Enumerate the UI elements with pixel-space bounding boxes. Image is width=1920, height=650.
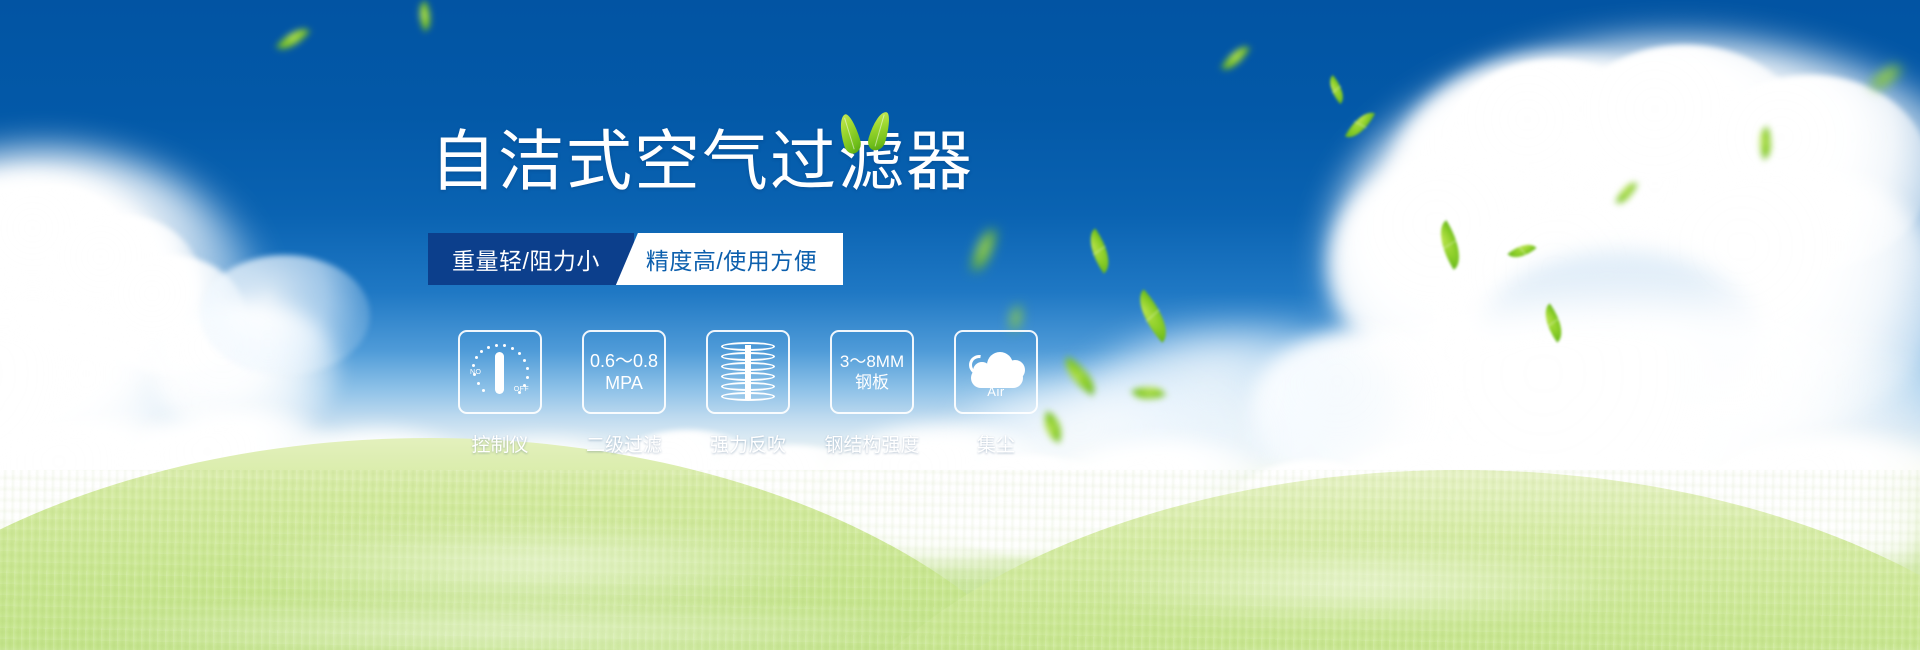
steel-material: 钢板 — [840, 372, 904, 393]
gauge-dial-icon: NO OFF — [469, 342, 531, 402]
steel-thickness: 3～8MM — [840, 351, 904, 372]
feature-item-steel-strength[interactable]: 3～8MM 钢板 钢结构强度 — [810, 330, 934, 457]
feature-label: 钢结构强度 — [824, 430, 919, 457]
sprout-leaf-right — [866, 109, 893, 152]
tab-weight-resistance[interactable]: 重量轻/阻力小 — [428, 233, 634, 285]
feature-icon-box: Air — [954, 330, 1038, 414]
tab-precision-convenience[interactable]: 精度高/使用方便 — [616, 233, 843, 285]
pressure-value-icon: 0.6～0.8 MPA — [590, 350, 658, 394]
cloud-label-air: Air — [965, 384, 1027, 399]
steel-plate-value-icon: 3～8MM 钢板 — [840, 351, 904, 393]
sprout-leaves-icon — [839, 108, 899, 156]
feature-label: 集尘 — [977, 430, 1015, 457]
gauge-label-off: OFF — [514, 386, 529, 393]
product-banner: 自洁式空气过滤器 重量轻/阻力小 精度高/使用方便 — [0, 0, 1920, 650]
gauge-label-no: NO — [470, 369, 481, 376]
feature-item-dust-collection[interactable]: Air 集尘 — [934, 330, 1058, 457]
feature-label: 二级过滤 — [586, 430, 662, 457]
pressure-unit: MPA — [590, 372, 658, 394]
sprout-leaf-left — [836, 112, 864, 155]
feature-icon-box: 0.6～0.8 MPA — [582, 330, 666, 414]
feature-icon-list: NO OFF 控制仪 0.6～0.8 MPA 二级过滤 — [438, 330, 1058, 457]
feature-tabs: 重量轻/阻力小 精度高/使用方便 — [428, 233, 843, 285]
feature-icon-box — [706, 330, 790, 414]
banner-content: 自洁式空气过滤器 重量轻/阻力小 精度高/使用方便 — [0, 0, 1920, 650]
pressure-range: 0.6～0.8 — [590, 350, 658, 372]
feature-item-strong-backblow[interactable]: 强力反吹 — [686, 330, 810, 457]
gauge-needle — [495, 352, 504, 394]
feature-label: 强力反吹 — [710, 430, 786, 457]
feature-label: 控制仪 — [471, 430, 528, 457]
feature-icon-box: NO OFF — [458, 330, 542, 414]
air-cloud-icon: Air — [965, 344, 1027, 400]
feature-icon-box: 3～8MM 钢板 — [830, 330, 914, 414]
feature-item-controller[interactable]: NO OFF 控制仪 — [438, 330, 562, 457]
feature-item-two-stage-filter[interactable]: 0.6～0.8 MPA 二级过滤 — [562, 330, 686, 457]
filter-coil-icon — [721, 342, 775, 402]
